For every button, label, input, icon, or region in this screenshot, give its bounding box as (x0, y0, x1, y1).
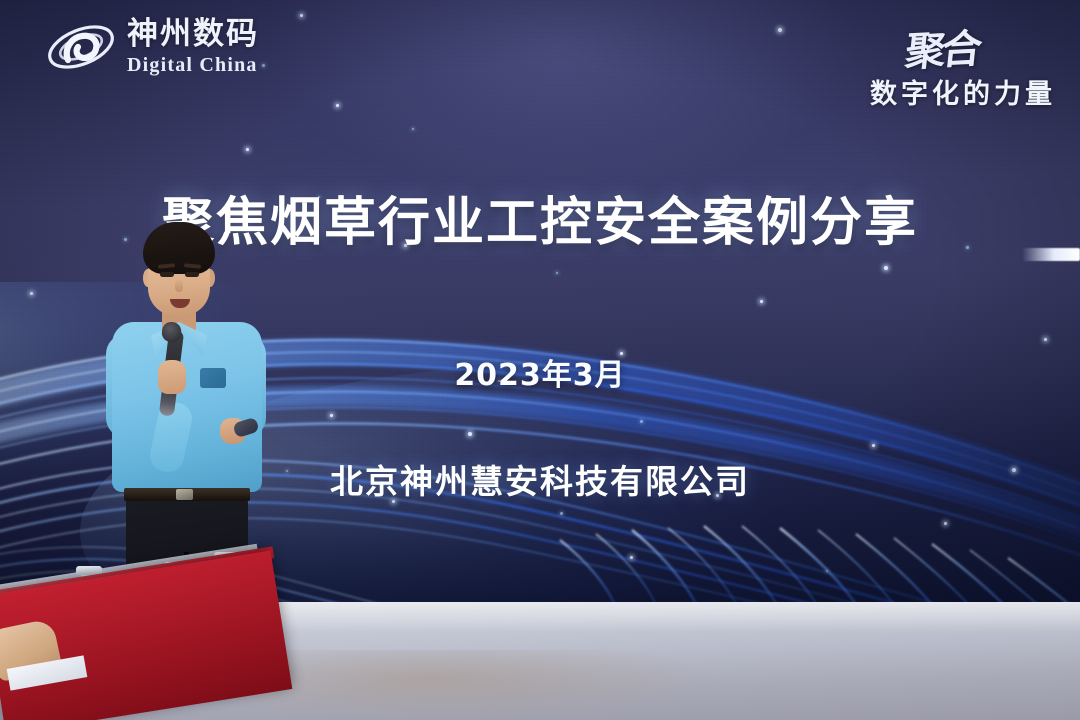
speaker-nose (175, 280, 183, 292)
digital-china-logo: 神州数码 Digital China (44, 16, 259, 78)
speaker-eye-left (160, 272, 174, 277)
speaker-belt-buckle (176, 489, 193, 500)
logo-english-name: Digital China (127, 55, 259, 75)
speaker-eye-right (185, 272, 199, 277)
slogan-calligraphy: 聚合 (903, 16, 982, 78)
screen-edge-light (1022, 248, 1080, 261)
conference-photo: 神州数码 Digital China 聚合 数字化的力量 聚焦烟草行业工控安全案… (0, 0, 1080, 720)
speaker-shirt-logo (200, 368, 226, 388)
speaker-hair (143, 222, 215, 274)
speaker-hand-left (158, 360, 186, 394)
logo-chinese-name: 神州数码 (127, 19, 259, 50)
digital-china-swirl-icon (44, 16, 118, 78)
event-slogan: 聚合 数字化的力量 (870, 18, 1056, 111)
slogan-subtitle: 数字化的力量 (870, 72, 1056, 111)
